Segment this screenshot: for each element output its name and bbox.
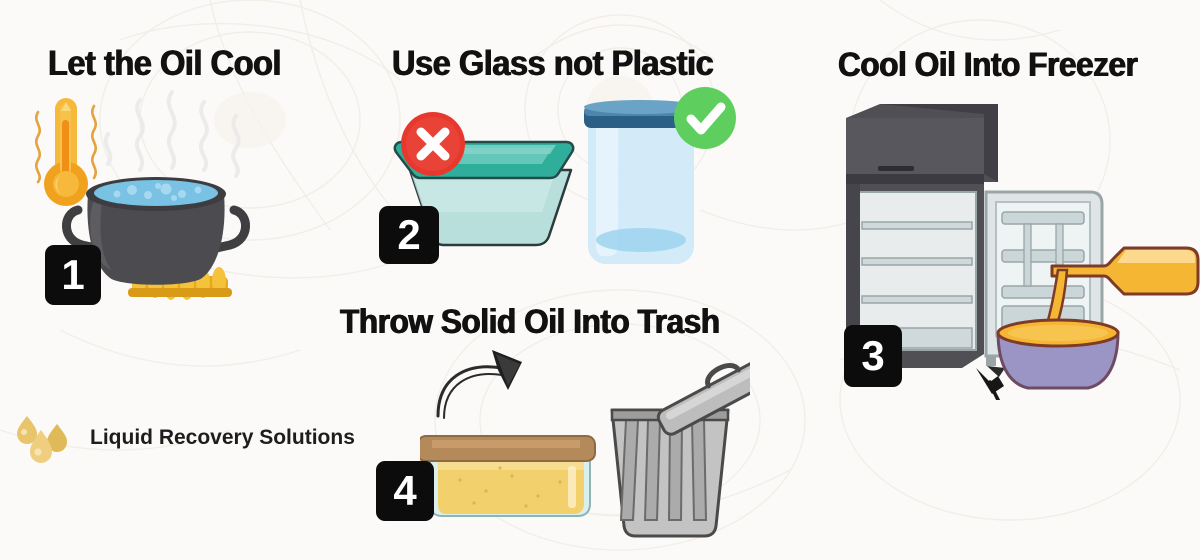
oil-droplets-icon bbox=[12, 412, 72, 464]
trash-can bbox=[612, 348, 750, 536]
solid-oil-container bbox=[420, 436, 595, 516]
step-3-heading: Cool Oil Into Freezer bbox=[838, 46, 1137, 85]
step-3-number-badge: 3 bbox=[844, 325, 902, 387]
step-2-number-badge: 2 bbox=[379, 206, 439, 264]
infographic-poster: Let the Oil Cool Use Glass not Plastic C… bbox=[0, 0, 1200, 560]
step-2-illustration bbox=[388, 82, 748, 292]
step-2-heading: Use Glass not Plastic bbox=[392, 44, 713, 84]
step-4-number-badge: 4 bbox=[376, 461, 434, 521]
red-x-icon bbox=[401, 112, 465, 176]
step-1-number-badge: 1 bbox=[45, 245, 101, 305]
brand-lockup: Liquid Recovery Solutions bbox=[12, 412, 355, 464]
arrow-icon bbox=[438, 350, 522, 418]
brand-name: Liquid Recovery Solutions bbox=[90, 426, 355, 450]
green-check-icon bbox=[674, 87, 736, 149]
thermometer-icon bbox=[44, 98, 88, 206]
step-1-heading: Let the Oil Cool bbox=[48, 44, 281, 84]
step-4-illustration bbox=[420, 348, 750, 538]
oil-bowl bbox=[998, 320, 1118, 388]
step-4-heading: Throw Solid Oil Into Trash bbox=[340, 303, 720, 342]
